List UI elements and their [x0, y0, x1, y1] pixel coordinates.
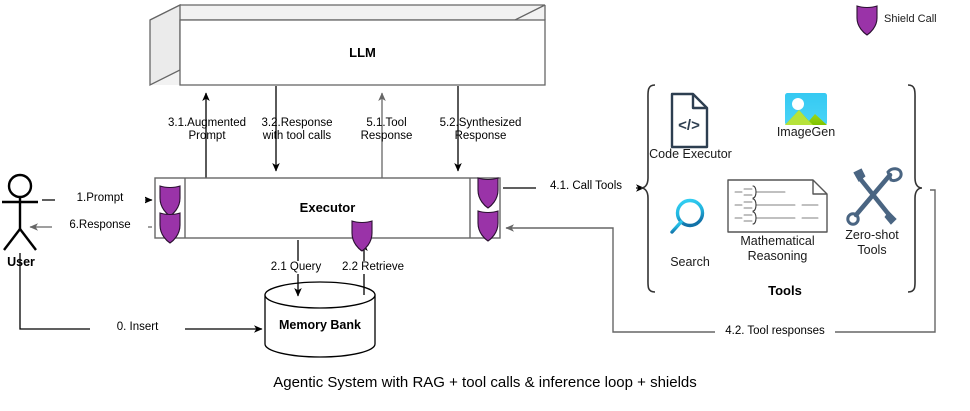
tool-label-search: Search: [659, 255, 721, 270]
llm-label: LLM: [180, 45, 545, 60]
shield-icon-legend: [857, 6, 877, 35]
tools-bracket-right: [908, 85, 922, 292]
code-document-icon: </>: [672, 94, 707, 147]
tools-bracket-left: [641, 85, 655, 292]
tool-label-image-gen: ImageGen: [772, 125, 840, 140]
diagram-vector-layer: </>: [0, 0, 970, 411]
image-photo-icon: [785, 93, 827, 125]
formula-document-icon: [728, 180, 827, 232]
svg-text:</>: </>: [678, 117, 700, 134]
tool-label-code-executor: Code Executor: [648, 147, 733, 162]
diagram-canvas: </>: [0, 0, 970, 411]
crossed-tools-icon: [848, 169, 901, 224]
edge-0-insert: [20, 253, 262, 329]
magnifier-icon: [672, 201, 703, 233]
shield-icon-memory-retrieve: [352, 221, 372, 251]
tools-group-label: Tools: [700, 283, 870, 298]
user-label: User: [0, 255, 42, 269]
executor-label: Executor: [185, 200, 470, 215]
legend-label-shield-call: Shield Call: [884, 13, 937, 25]
diagram-caption: Agentic System with RAG + tool calls & i…: [0, 374, 970, 391]
user-actor: [2, 175, 38, 250]
tool-label-zero-shot-tools: Zero-shot Tools: [836, 228, 908, 258]
tool-label-mathematical-reasoning: Mathematical Reasoning: [724, 234, 831, 264]
memory-bank-label: Memory Bank: [265, 318, 375, 332]
